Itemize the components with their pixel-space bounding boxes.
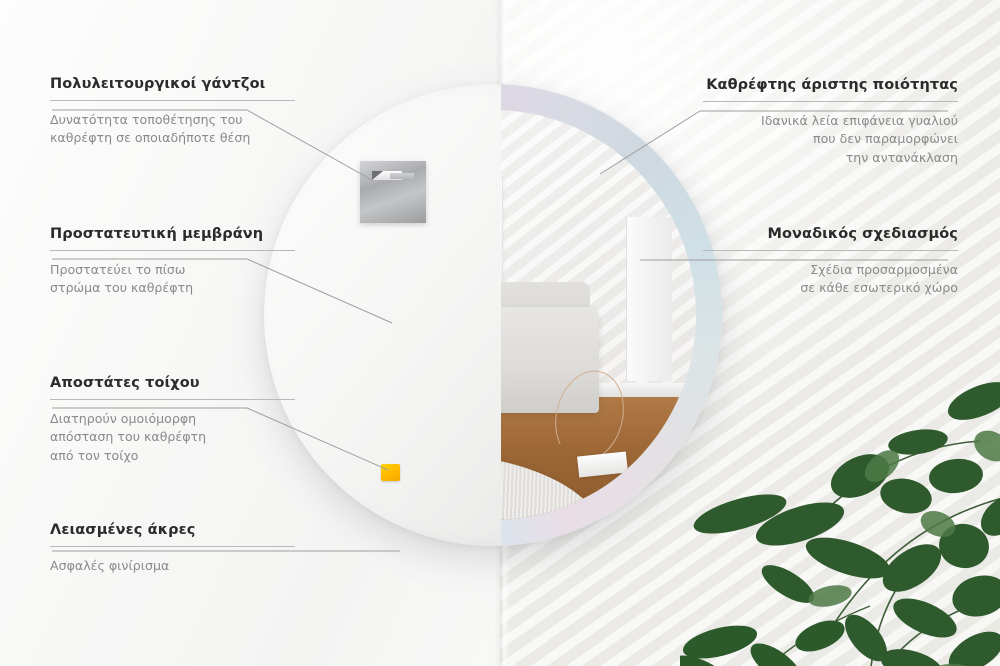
callout-protective-membrane: Προστατευτική μεμβράνη Προστατεύει το πί… bbox=[50, 225, 295, 298]
hanging-hook-plate bbox=[360, 161, 426, 223]
callout-body: Προστατεύει το πίσωστρώμα του καθρέφτη bbox=[50, 261, 295, 298]
callout-body: Διατηρούν ομοιόμορφηαπόσταση του καθρέφτ… bbox=[50, 410, 295, 465]
callout-rule bbox=[50, 546, 295, 547]
callout-multifunctional-hooks: Πολυλειτουργικοί γάντζοι Δυνατότητα τοπο… bbox=[50, 75, 295, 148]
infographic-canvas: Πολυλειτουργικοί γάντζοι Δυνατότητα τοπο… bbox=[0, 0, 1000, 666]
callout-wall-spacers: Αποστάτες τοίχου Διατηρούν ομοιόμορφηαπό… bbox=[50, 374, 295, 465]
callout-body: Ασφαλές φινίρισμα bbox=[50, 557, 295, 575]
callout-title: Προστατευτική μεμβράνη bbox=[50, 225, 295, 243]
round-mirror-product bbox=[264, 84, 722, 546]
callout-title: Λειασμένες άκρες bbox=[50, 521, 295, 539]
callout-unique-design: Μοναδικός σχεδιασμός Σχέδια προσαρμοσμέν… bbox=[703, 225, 958, 298]
hook-slot-secondary bbox=[390, 173, 414, 179]
yellow-wall-spacer bbox=[381, 464, 400, 481]
callout-top-quality-mirror: Καθρέφτης άριστης ποιότητας Ιδανικά λεία… bbox=[703, 76, 958, 167]
callout-body: Ιδανικά λεία επιφάνεια γυαλιούπου δεν πα… bbox=[703, 112, 958, 167]
callout-rule bbox=[50, 399, 295, 400]
callout-rule bbox=[703, 101, 958, 102]
callout-body: Σχέδια προσαρμοσμένασε κάθε εσωτερικό χώ… bbox=[703, 261, 958, 298]
eucalyptus-branch-lower-left bbox=[680, 486, 870, 666]
callout-rule bbox=[50, 250, 295, 251]
callout-body: Δυνατότητα τοποθέτησης τουκαθρέφτη σε οπ… bbox=[50, 111, 295, 148]
callout-title: Αποστάτες τοίχου bbox=[50, 374, 295, 392]
callout-title: Μοναδικός σχεδιασμός bbox=[703, 225, 958, 243]
callout-rule bbox=[703, 250, 958, 251]
reflected-doorway bbox=[626, 217, 672, 381]
callout-title: Πολυλειτουργικοί γάντζοι bbox=[50, 75, 295, 93]
callout-rule bbox=[50, 100, 295, 101]
callout-polished-edges: Λειασμένες άκρες Ασφαλές φινίρισμα bbox=[50, 521, 295, 575]
callout-title: Καθρέφτης άριστης ποιότητας bbox=[703, 76, 958, 94]
